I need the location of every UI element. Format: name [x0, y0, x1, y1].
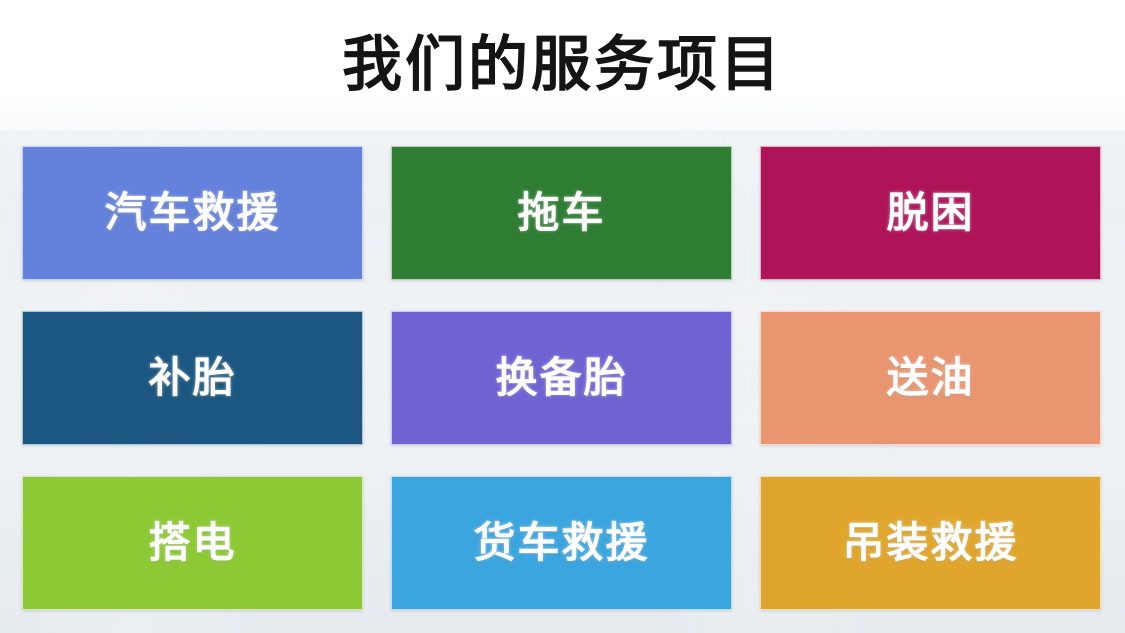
service-tile[interactable]: 货车救援 [391, 476, 732, 610]
service-grid: 汽车救援拖车脱困补胎换备胎送油搭电货车救援吊装救援 [22, 146, 1102, 610]
service-tile-label: 汽车救援 [104, 192, 280, 234]
service-tile-label: 换备胎 [495, 357, 627, 399]
service-tile[interactable]: 搭电 [22, 476, 363, 610]
service-tile[interactable]: 换备胎 [391, 311, 732, 445]
service-tile[interactable]: 脱困 [760, 146, 1101, 280]
title-band: 我们的服务项目 [0, 0, 1125, 130]
service-tile-label: 脱困 [886, 192, 974, 234]
service-tile[interactable]: 送油 [760, 311, 1101, 445]
service-tile[interactable]: 拖车 [391, 146, 732, 280]
page-title: 我们的服务项目 [342, 35, 783, 95]
service-tile-label: 拖车 [517, 192, 605, 234]
service-tile-label: 搭电 [148, 522, 236, 564]
service-tile[interactable]: 吊装救援 [760, 476, 1101, 610]
service-tile[interactable]: 补胎 [22, 311, 363, 445]
service-tile-label: 补胎 [148, 357, 236, 399]
service-tile-label: 吊装救援 [842, 522, 1018, 564]
service-tile[interactable]: 汽车救援 [22, 146, 363, 280]
service-tile-label: 货车救援 [473, 522, 649, 564]
service-poster: 我们的服务项目 汽车救援拖车脱困补胎换备胎送油搭电货车救援吊装救援 [0, 0, 1125, 633]
service-tile-label: 送油 [886, 357, 974, 399]
